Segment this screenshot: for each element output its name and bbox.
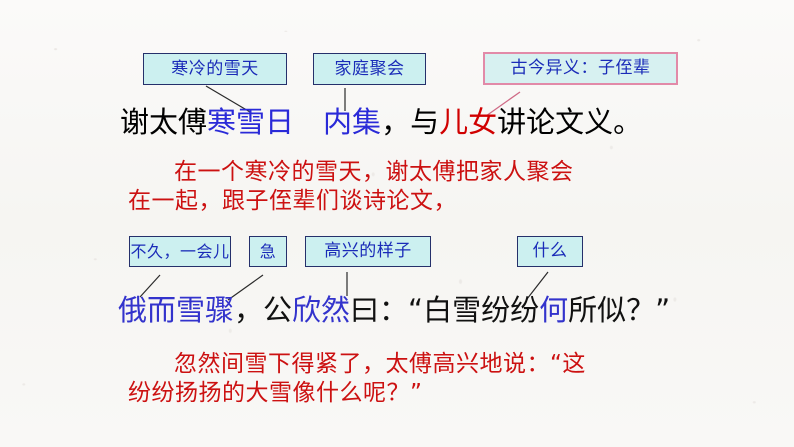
classical-1-seg-3: [294, 105, 323, 139]
classical-2-seg-6: 所似？”: [568, 293, 670, 327]
box-family-gathering-label: 家庭聚会: [335, 61, 405, 78]
classical-line-2: 俄而雪骤，公欣然曰：“白雪纷纷何所似？”: [118, 296, 670, 325]
box-happy-appearance-label: 高兴的样子: [324, 243, 412, 260]
classical-line-1: 谢太傅寒雪日 内集，与儿女讲论文义。: [120, 108, 642, 137]
classical-2-seg-2: ，公: [234, 293, 292, 327]
box-ancient-modern-meaning[interactable]: 古今异义：子侄辈: [483, 52, 678, 85]
box-happy-appearance[interactable]: 高兴的样子: [305, 236, 431, 267]
box-soon-a-while-label: 不久，一会儿: [130, 244, 229, 260]
classical-1-seg-6: 儿女: [439, 105, 497, 139]
translation-1-line-1-text: 在一个寒冷的雪天，谢太傅把家人聚会: [174, 159, 574, 185]
classical-2-seg-1: 俄而雪骤: [118, 293, 234, 327]
translation-2: 忽然间雪下得紧了，太傅高兴地说：“这 纷纷扬扬的大雪像什么呢？”: [128, 350, 586, 408]
box-ancient-modern-meaning-label: 古今异义：子侄辈: [511, 60, 651, 77]
box-what[interactable]: 什么: [517, 236, 583, 267]
classical-1-seg-7: 讲论文义。: [497, 105, 642, 139]
box-cold-snowy-day[interactable]: 寒冷的雪天: [143, 53, 287, 85]
translation-2-line-1-text: 忽然间雪下得紧了，太傅高兴地说：“这: [174, 351, 586, 377]
box-sudden-label: 急: [260, 244, 277, 260]
classical-2-seg-5: 何: [539, 293, 568, 327]
box-cold-snowy-day-label: 寒冷的雪天: [171, 61, 259, 78]
translation-1: 在一个寒冷的雪天，谢太傅把家人聚会 在一起，跟子侄辈们谈诗论文，: [128, 158, 574, 216]
classical-1-seg-2: 寒雪日: [207, 105, 294, 139]
box-soon-a-while[interactable]: 不久，一会儿: [129, 236, 231, 267]
translation-1-line-1: 在一个寒冷的雪天，谢太傅把家人聚会: [128, 158, 574, 187]
classical-2-seg-4: 曰：“白雪纷纷: [350, 293, 539, 327]
classical-1-seg-4: 内集: [323, 105, 381, 139]
classical-1-seg-5: ，与: [381, 105, 439, 139]
translation-2-line-2: 纷纷扬扬的大雪像什么呢？”: [128, 379, 586, 408]
translation-2-line-1: 忽然间雪下得紧了，太傅高兴地说：“这: [128, 350, 586, 379]
slide-canvas: 寒冷的雪天 家庭聚会 古今异义：子侄辈 谢太傅寒雪日 内集，与儿女讲论文义。 在…: [0, 0, 794, 447]
translation-1-line-2: 在一起，跟子侄辈们谈诗论文，: [128, 187, 574, 216]
box-what-label: 什么: [533, 243, 568, 260]
box-family-gathering[interactable]: 家庭聚会: [313, 53, 426, 85]
classical-2-seg-3: 欣然: [292, 293, 350, 327]
box-sudden[interactable]: 急: [249, 236, 287, 267]
classical-1-seg-1: 谢太傅: [120, 105, 207, 139]
